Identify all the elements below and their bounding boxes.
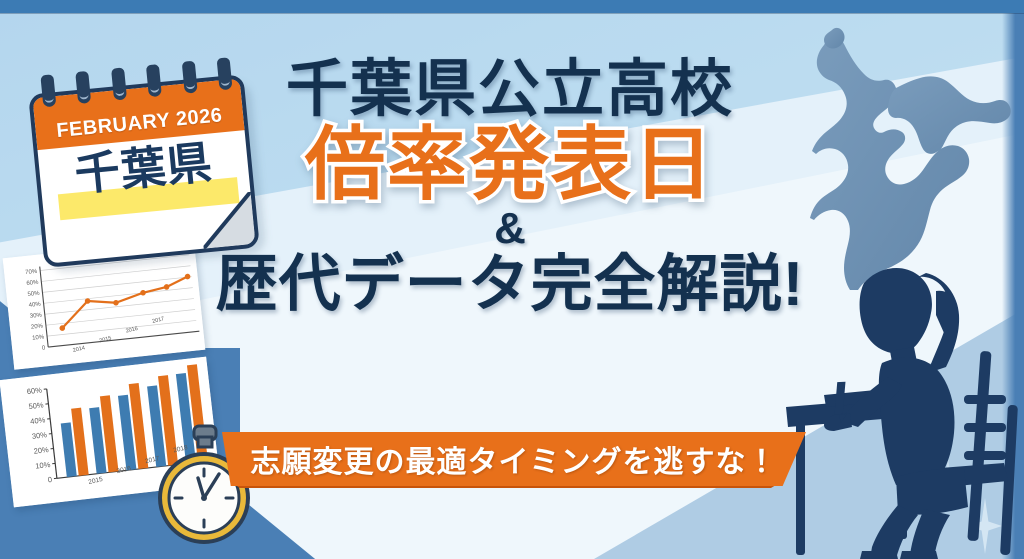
svg-text:40%: 40% <box>30 415 46 426</box>
svg-text:20%: 20% <box>33 445 49 456</box>
svg-text:0: 0 <box>47 475 52 484</box>
svg-text:10%: 10% <box>35 460 51 471</box>
svg-text:50%: 50% <box>28 400 44 411</box>
svg-text:30%: 30% <box>31 430 47 441</box>
calendar-ring <box>111 67 127 100</box>
calendar-ring <box>146 64 162 97</box>
calendar-ring <box>76 71 92 104</box>
poster-canvas: 70% 60% 50% 40% 30% 20% 10% 0 2014 2015 … <box>0 0 1024 559</box>
title-line-2-highlight: 倍率発表日 <box>170 125 850 205</box>
title-ampersand: & <box>170 207 850 251</box>
title-line-3: 歴代データ完全解説! <box>170 253 850 316</box>
title-line-1: 千葉県公立高校 <box>170 58 850 121</box>
subtitle-banner: 志願変更の最適タイミングを逃すな！ <box>222 432 806 486</box>
title-block: 千葉県公立高校 倍率発表日 & 歴代データ完全解説! <box>170 58 850 316</box>
background-top-band <box>0 0 1024 13</box>
calendar-ring <box>40 74 56 107</box>
subtitle-banner-text: 志願変更の最適タイミングを逃すな！ <box>222 432 806 486</box>
svg-text:60%: 60% <box>26 385 42 396</box>
